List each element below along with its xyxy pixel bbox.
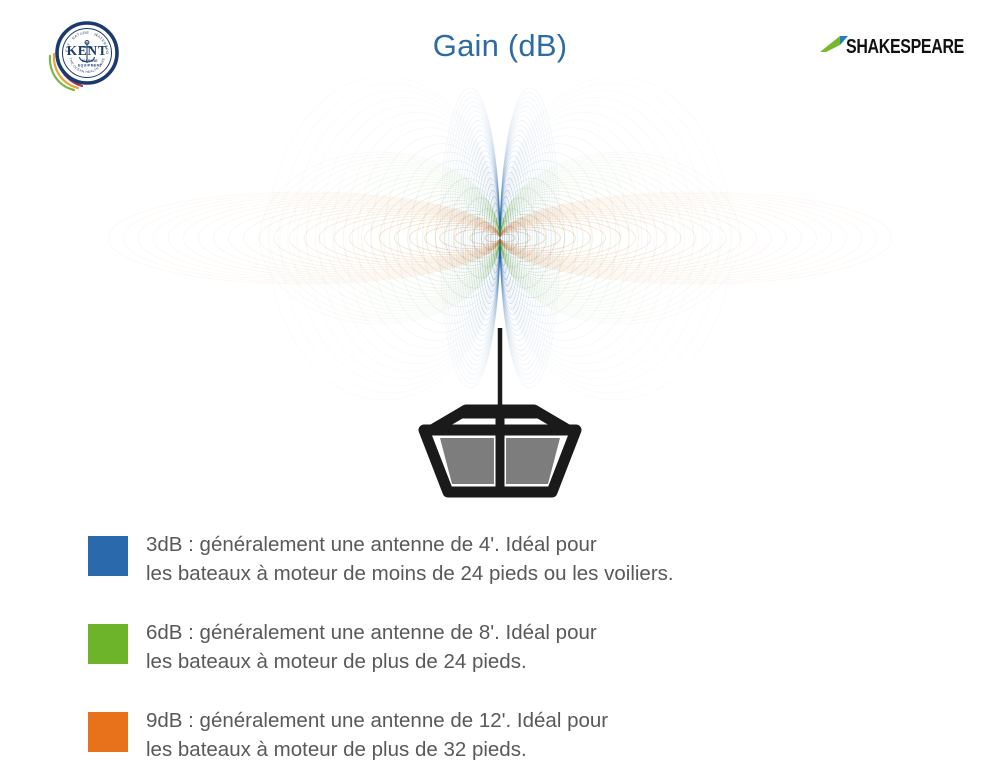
legend-text-3db: 3dB : généralement une antenne de 4ʹ. Id… <box>146 530 674 588</box>
legend-swatch-9db <box>88 712 128 752</box>
legend-line1-3db: 3dB : généralement une antenne de 4ʹ. Id… <box>146 533 597 556</box>
boat-icon <box>424 408 576 492</box>
pattern-svg <box>0 78 1000 518</box>
slide-canvas: SAFETY · NATURE · WATERSPORT THE OCEAN H… <box>0 0 1000 781</box>
legend-swatch-6db <box>88 624 128 664</box>
legend-swatch-3db <box>88 536 128 576</box>
legend-line2-3db: les bateaux à moteur de moins de 24 pied… <box>146 559 674 588</box>
gain-legend: 3dB : généralement une antenne de 4ʹ. Id… <box>88 530 888 781</box>
legend-item-9db: 9dB : généralement une antenne de 12ʹ. I… <box>88 706 888 764</box>
shakespeare-mark-icon <box>820 36 848 52</box>
antenna-radiation-pattern-diagram <box>0 78 1000 518</box>
legend-line1-6db: 6dB : généralement une antenne de 8ʹ. Id… <box>146 621 597 644</box>
legend-text-6db: 6dB : généralement une antenne de 8ʹ. Id… <box>146 618 597 676</box>
legend-item-3db: 3dB : généralement une antenne de 4ʹ. Id… <box>88 530 888 588</box>
legend-line1-9db: 9dB : généralement une antenne de 12ʹ. I… <box>146 709 608 732</box>
lobe-ring-3dB <box>500 140 535 335</box>
legend-line2-9db: les bateaux à moteur de plus de 32 pieds… <box>146 735 608 764</box>
lobe-ring-3dB <box>479 172 500 303</box>
legend-text-9db: 9dB : généralement une antenne de 12ʹ. I… <box>146 706 608 764</box>
shakespeare-wordmark: SHAKESPEARE <box>846 35 964 58</box>
legend-item-6db: 6dB : généralement une antenne de 8ʹ. Id… <box>88 618 888 676</box>
legend-line2-6db: les bateaux à moteur de plus de 24 pieds… <box>146 647 597 676</box>
lobe-ring-3dB <box>500 172 521 303</box>
lobe-ring-3dB <box>465 140 500 335</box>
shakespeare-logo: SHAKESPEARE <box>818 29 966 63</box>
